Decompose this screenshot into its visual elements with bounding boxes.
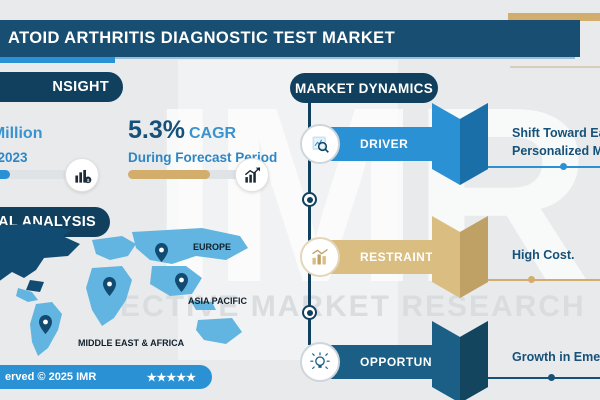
map-label-europe: EUROPE: [193, 242, 231, 252]
restraint-leader-line: [488, 279, 600, 281]
stat-market-size: 74Million ize in 2023: [0, 118, 120, 165]
market-size-progress-fill: [0, 170, 10, 179]
driver-leader-dot: [560, 163, 567, 170]
infographic-canvas: IMR ECTIVE MARKET RESEARCH ATOID ARTHRIT…: [0, 0, 600, 400]
declining-bar-chart-icon: [300, 237, 340, 277]
driver-text-line1: Shift Toward Early Diagno: [512, 125, 600, 141]
restraint-chevron-icon: [432, 216, 488, 298]
stat-market-size-caption: ize in 2023: [0, 150, 120, 165]
stat-market-size-unit: Million: [0, 125, 42, 142]
stat-cagr-value-row: 5.3%CAGR: [128, 118, 288, 143]
restraint-label: RESTRAINT: [360, 250, 433, 264]
dynamics-node-1: [302, 192, 317, 207]
page-title: ATOID ARTHRITIS DIAGNOSTIC TEST MARKET: [8, 29, 395, 48]
money-chart-icon: $: [65, 158, 99, 192]
gold-thin-line: [510, 66, 600, 68]
cagr-progress-fill: [128, 170, 210, 179]
restraint-text-line1: High Cost.: [512, 247, 575, 263]
opportunity-chevron-icon: [432, 321, 488, 400]
footer-bar: erved © 2025 IMR ★★★★★: [0, 365, 212, 389]
lightbulb-icon: [300, 342, 340, 382]
stat-market-size-value-row: 74Million: [0, 118, 120, 143]
stat-cagr-value: 5.3%: [128, 116, 185, 144]
svg-text:$: $: [86, 177, 89, 183]
driver-leader-line: [488, 166, 600, 168]
opportunity-leader-line: [488, 377, 600, 379]
footer-copyright: erved © 2025 IMR: [5, 371, 96, 383]
opportunity-text-line1: Growth in Emerging Mar: [512, 349, 600, 365]
title-bar: ATOID ARTHRITIS DIAGNOSTIC TEST MARKET: [0, 20, 580, 57]
dynamics-node-2: [302, 305, 317, 320]
market-insight-badge: NSIGHT: [0, 72, 123, 102]
stat-cagr: 5.3%CAGR During Forecast Period: [128, 118, 288, 165]
rating-stars: ★★★★★: [147, 371, 196, 384]
document-search-icon: [300, 124, 340, 164]
map-label-asia-pacific: ASIA PACIFIC: [188, 296, 247, 306]
growth-chart-icon: [235, 158, 269, 192]
driver-label: DRIVER: [360, 137, 408, 151]
driver-chevron-icon: [432, 103, 488, 185]
driver-text-line2: Personalized Medicine: [512, 143, 600, 159]
title-underline-accent: [0, 57, 115, 63]
title-underline-thin: [115, 57, 575, 59]
market-size-progress-track: [0, 170, 73, 179]
map-label-middle-east-africa: MIDDLE EAST & AFRICA: [78, 338, 184, 348]
world-map: CA AMERICA EUROPE ASIA PACIFIC MIDDLE EA…: [0, 222, 280, 362]
stat-cagr-unit: CAGR: [189, 125, 236, 142]
market-dynamics-badge: MARKET DYNAMICS: [290, 73, 438, 103]
restraint-leader-dot: [528, 276, 535, 283]
opportunity-leader-dot: [548, 374, 555, 381]
